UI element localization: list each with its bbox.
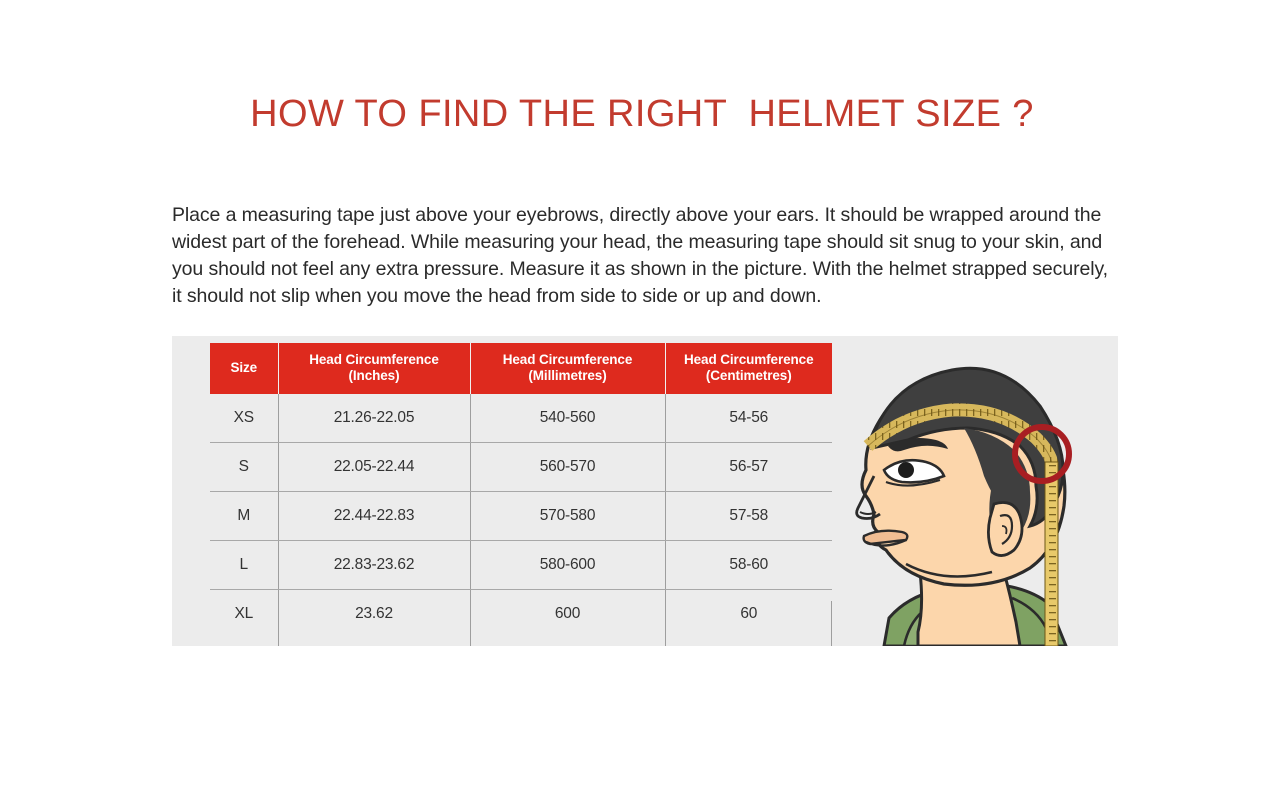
column-header-sublabel: (Centimetres)	[706, 368, 792, 383]
column-header-size: Size	[210, 343, 278, 394]
cell-millimetres: 540-560	[470, 394, 665, 443]
page-title: HOW TO FIND THE RIGHT HELMET SIZE ?	[0, 93, 1284, 136]
table-row: XS 21.26-22.05 540-560 54-56	[210, 394, 832, 443]
cell-inches: 23.62	[278, 590, 470, 639]
column-header-label: Head Circumference	[684, 352, 814, 367]
table-row: L 22.83-23.62 580-600 58-60	[210, 541, 832, 590]
table-rule-extension	[470, 601, 471, 646]
head-profile-figure	[844, 336, 1118, 646]
cell-size: L	[210, 541, 278, 590]
cell-size: M	[210, 492, 278, 541]
helmet-size-table: Size Head Circumference (Inches) Head Ci…	[210, 343, 832, 638]
table-rule-extension	[831, 601, 832, 646]
cell-inches: 22.83-23.62	[278, 541, 470, 590]
cell-millimetres: 600	[470, 590, 665, 639]
cell-millimetres: 580-600	[470, 541, 665, 590]
column-header-label: Head Circumference	[309, 352, 439, 367]
cell-centimetres: 54-56	[665, 394, 832, 443]
cell-size: S	[210, 443, 278, 492]
column-header-sublabel: (Inches)	[349, 368, 400, 383]
helmet-size-guide-page: HOW TO FIND THE RIGHT HELMET SIZE ? Plac…	[0, 0, 1284, 796]
cell-inches: 22.44-22.83	[278, 492, 470, 541]
cell-millimetres: 570-580	[470, 492, 665, 541]
column-header-label: Size	[230, 360, 257, 375]
cell-centimetres: 58-60	[665, 541, 832, 590]
cell-inches: 21.26-22.05	[278, 394, 470, 443]
cell-inches: 22.05-22.44	[278, 443, 470, 492]
cell-size: XL	[210, 590, 278, 639]
measuring-tape-tail	[1045, 462, 1058, 646]
table-row: M 22.44-22.83 570-580 57-58	[210, 492, 832, 541]
ear	[988, 503, 1022, 556]
column-header-label: Head Circumference	[503, 352, 633, 367]
cell-centimetres: 56-57	[665, 443, 832, 492]
intro-paragraph: Place a measuring tape just above your e…	[172, 202, 1122, 310]
mouth	[864, 531, 908, 546]
cell-millimetres: 560-570	[470, 443, 665, 492]
column-header-millimetres: Head Circumference (Millimetres)	[470, 343, 665, 394]
column-header-sublabel: (Millimetres)	[528, 368, 606, 383]
head-measurement-illustration: Side profile of a person's head with a m…	[844, 336, 1118, 646]
table-header-row: Size Head Circumference (Inches) Head Ci…	[210, 343, 832, 394]
cell-centimetres: 57-58	[665, 492, 832, 541]
column-header-inches: Head Circumference (Inches)	[278, 343, 470, 394]
table-rule-extension	[665, 601, 666, 646]
cell-size: XS	[210, 394, 278, 443]
table-row: S 22.05-22.44 560-570 56-57	[210, 443, 832, 492]
cell-centimetres: 60	[665, 590, 832, 639]
table-row: XL 23.62 600 60	[210, 590, 832, 639]
size-chart-panel: Size Head Circumference (Inches) Head Ci…	[172, 336, 1118, 646]
table-rule-extension	[278, 601, 279, 646]
column-header-centimetres: Head Circumference (Centimetres)	[665, 343, 832, 394]
